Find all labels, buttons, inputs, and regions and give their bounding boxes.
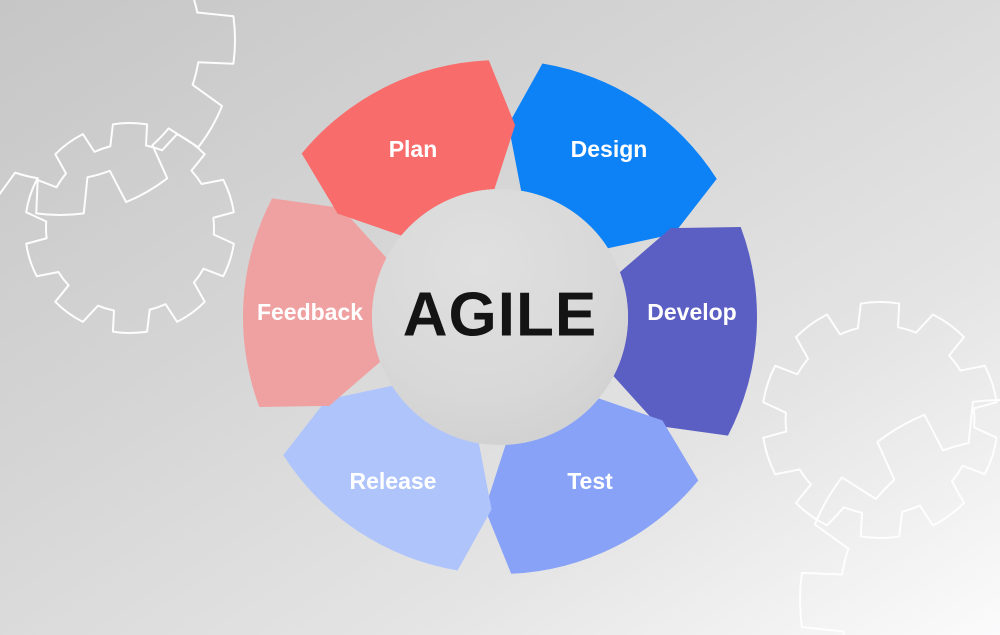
wheel-segment-design[interactable] [614,227,757,436]
segment-label-feedback: Feedback [257,299,363,325]
segment-label-plan: Plan [389,136,438,162]
segment-label-design: Design [571,136,648,162]
agile-diagram-canvas: AGILE PlanDesignDevelopTestReleaseFeedba… [0,0,1000,635]
agile-wheel: AGILE PlanDesignDevelopTestReleaseFeedba… [0,0,1000,635]
segment-label-test: Test [567,468,613,494]
segment-label-develop: Develop [647,299,736,325]
segment-label-release: Release [350,468,437,494]
center-label: AGILE [403,280,597,349]
